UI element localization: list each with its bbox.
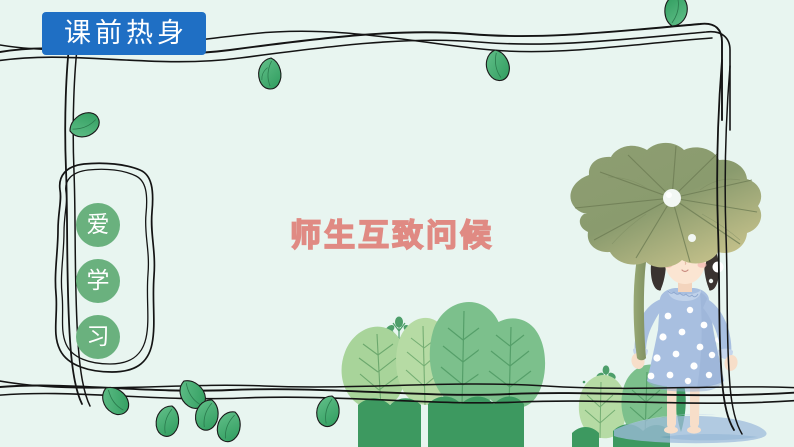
study-circle-xi[interactable]: 习: [76, 315, 120, 359]
study-circle-xue[interactable]: 学: [76, 259, 120, 303]
lotus-leaf: [570, 143, 761, 283]
study-badge-circles: 爱 学 习: [48, 168, 152, 368]
title-badge-label: 课前热身: [60, 20, 188, 47]
study-badge: 爱 学 习: [48, 168, 152, 368]
study-circle-label: 习: [87, 326, 110, 349]
slide-canvas: 课前热身 师生互致问候 爱 学 习: [0, 0, 794, 447]
study-circle-ai[interactable]: 爱: [76, 203, 120, 247]
center-heading: 师生互致问候: [290, 221, 494, 252]
study-circle-label: 学: [87, 270, 110, 293]
title-badge[interactable]: 课前热身: [42, 12, 206, 55]
study-circle-label: 爱: [87, 214, 110, 237]
bush-cluster-left: [342, 302, 546, 447]
